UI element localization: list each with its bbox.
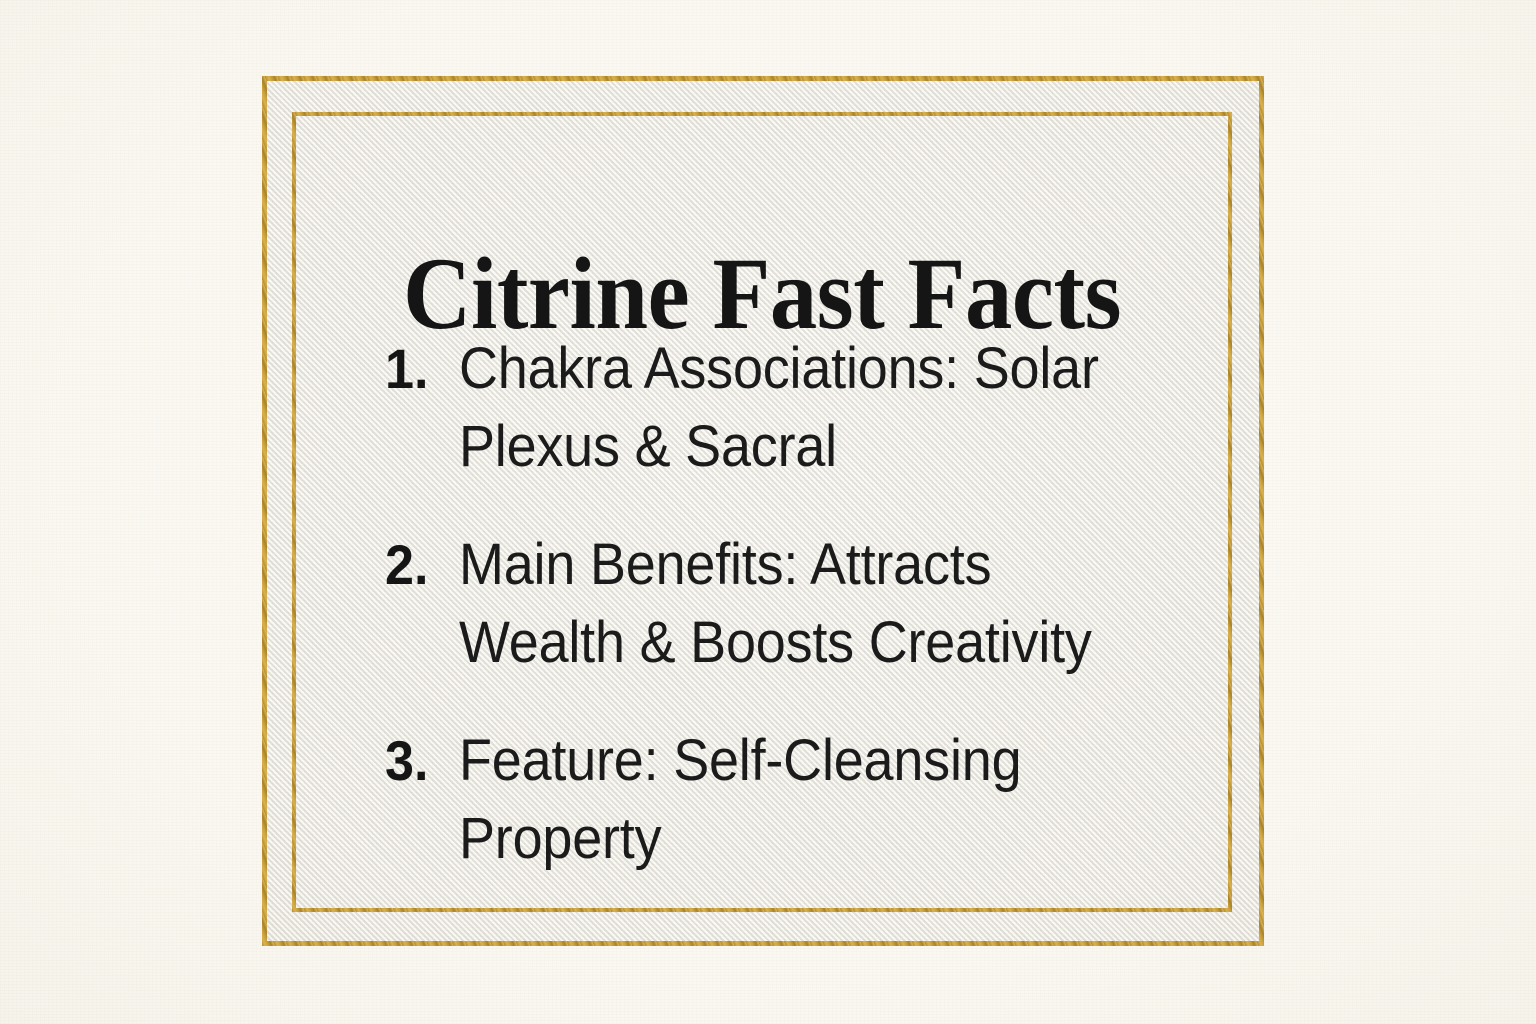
fact-list: 1. Chakra Associations: Solar Plexus & S… <box>385 330 1175 878</box>
list-item-text: Chakra Associations: Solar Plexus & Sacr… <box>459 330 1125 486</box>
list-item: 2. Main Benefits: Attracts Wealth & Boos… <box>385 526 1175 682</box>
page-background: Citrine Fast Facts 1. Chakra Association… <box>0 0 1536 1024</box>
list-item: 3. Feature: Self-Cleansing Property <box>385 722 1175 878</box>
list-item-number: 1. <box>385 330 454 408</box>
list-item-number: 3. <box>385 722 454 800</box>
list-item-number: 2. <box>385 526 454 604</box>
list-item: 1. Chakra Associations: Solar Plexus & S… <box>385 330 1175 486</box>
list-item-text: Feature: Self-Cleansing Property <box>459 722 1125 878</box>
list-item-text: Main Benefits: Attracts Wealth & Boosts … <box>459 526 1125 682</box>
card-content: Citrine Fast Facts 1. Chakra Association… <box>292 112 1232 912</box>
